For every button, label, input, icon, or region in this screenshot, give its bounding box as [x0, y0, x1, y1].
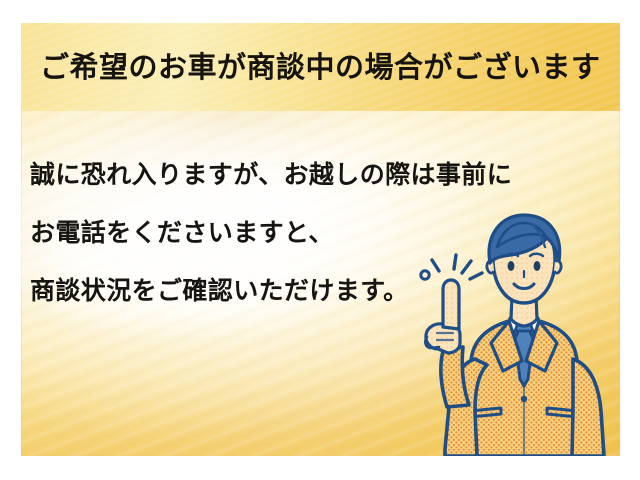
suit-jacket: [461, 317, 585, 456]
jacket-button: [521, 396, 527, 402]
body-line-2: お電話をくださいますと、: [30, 204, 480, 262]
jacket-pocket-right: [547, 408, 578, 417]
lapel-right: [526, 321, 557, 371]
knuckle-lines: [437, 333, 453, 340]
pointing-hand: [426, 324, 460, 353]
eyebrow-left: [505, 254, 518, 256]
neck: [511, 295, 537, 326]
announcement-card: ご希望のお車が商談中の場合がございます 誠に恐れ入りますが、お越しの際は事前に …: [21, 23, 620, 456]
raised-arm-sleeve: [445, 359, 487, 456]
ear-left: [487, 261, 494, 273]
face: [493, 221, 555, 303]
body-line-3: 商談状況をご確認いただけます。: [30, 262, 480, 320]
necktie: [515, 329, 533, 386]
jacket-pocket-left: [470, 408, 501, 417]
poster-canvas: ご希望のお車が商談中の場合がございます 誠に恐れ入りますが、お越しの際は事前に …: [0, 0, 640, 480]
raised-forearm-sleeve: [441, 347, 469, 407]
dress-shirt: [510, 314, 538, 361]
thumb: [425, 337, 439, 348]
hair: [489, 215, 560, 263]
eye-right: [534, 261, 541, 271]
body-text-block: 誠に恐れ入りますが、お越しの際は事前に お電話をくださいますと、 商談状況をご確…: [30, 146, 480, 320]
lapel-left: [491, 321, 522, 371]
eyebrow-right: [530, 254, 543, 256]
ear-right: [554, 261, 561, 273]
hair-strand: [533, 225, 545, 247]
eye-left: [508, 261, 515, 271]
hair-fringe: [497, 223, 547, 247]
necktie-knot: [515, 323, 533, 331]
page-title: ご希望のお車が商談中の場合がございます: [40, 50, 610, 84]
shirt-collar-right: [524, 317, 541, 335]
lowered-arm-sleeve: [572, 359, 604, 456]
smiling-mouth: [514, 284, 534, 289]
body-line-1: 誠に恐れ入りますが、お越しの際は事前に: [30, 146, 480, 204]
shirt-collar-left: [507, 317, 524, 335]
